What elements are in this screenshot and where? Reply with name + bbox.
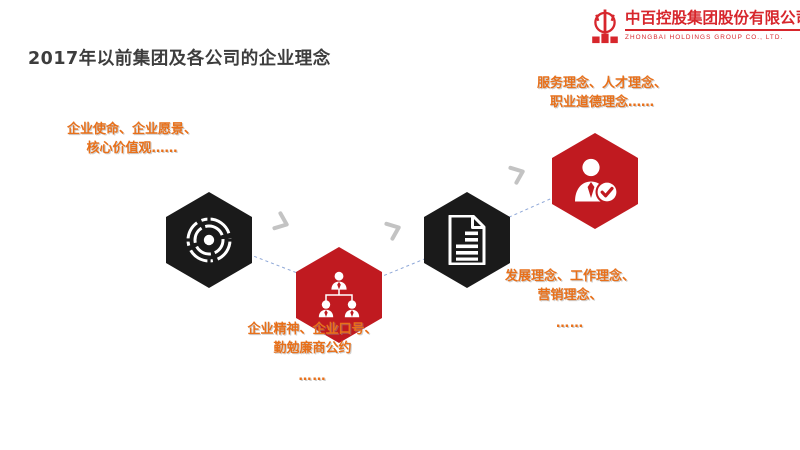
slide-canvas: 中百控股集团股份有限公司 ZHONGBAI HOLDINGS GROUP CO.… [0, 0, 800, 450]
person-check-icon [569, 156, 621, 206]
arrow-3 [505, 159, 534, 188]
page-title: 2017年以前集团及各公司的企业理念 [28, 45, 331, 70]
node-target[interactable] [166, 192, 252, 288]
caption-node-target: 企业使命、企业愿景、 核心价值观…… [32, 120, 232, 158]
company-logo: 中百控股集团股份有限公司 ZHONGBAI HOLDINGS GROUP CO.… [588, 8, 794, 52]
chevron-right-icon [381, 215, 410, 244]
arrow-1 [269, 209, 298, 238]
caption-line-2: 职业道德理念…… [550, 95, 654, 110]
zhongbai-tower-logo-mark [588, 9, 622, 47]
logo-text: 中百控股集团股份有限公司 ZHONGBAI HOLDINGS GROUP CO.… [625, 8, 800, 42]
arrow-2 [381, 215, 410, 244]
chevron-right-icon [269, 209, 298, 238]
chevron-right-icon [505, 159, 534, 188]
caption-node-team: 企业精神、企业口号、 勤勉廉商公约 …… [230, 320, 395, 386]
logo-company-name-cn: 中百控股集团股份有限公司 [625, 9, 800, 28]
caption-line-1: 企业使命、企业愿景、 [67, 122, 197, 137]
logo-company-name-en: ZHONGBAI HOLDINGS GROUP CO., LTD. [625, 33, 800, 42]
caption-line-1: 企业精神、企业口号、 [247, 322, 377, 337]
caption-ellipsis: …… [230, 367, 395, 386]
caption-line-1: 服务理念、人才理念、 [537, 76, 667, 91]
caption-line-2: 勤勉廉商公约 [273, 341, 351, 356]
target-bullseye-icon [185, 216, 233, 264]
logo-divider-rule [625, 29, 800, 31]
document-lines-icon [446, 215, 488, 265]
org-chart-people-icon [313, 270, 365, 320]
node-person-check[interactable] [552, 133, 638, 229]
caption-node-document: 发展理念、工作理念、 营销理念、 …… [480, 267, 660, 333]
caption-line-2: 营销理念、 [537, 288, 602, 303]
caption-line-1: 发展理念、工作理念、 [505, 269, 635, 284]
caption-ellipsis: …… [480, 314, 660, 333]
caption-line-2: 核心价值观…… [86, 141, 177, 156]
caption-node-person-check: 服务理念、人才理念、 职业道德理念…… [512, 74, 692, 112]
